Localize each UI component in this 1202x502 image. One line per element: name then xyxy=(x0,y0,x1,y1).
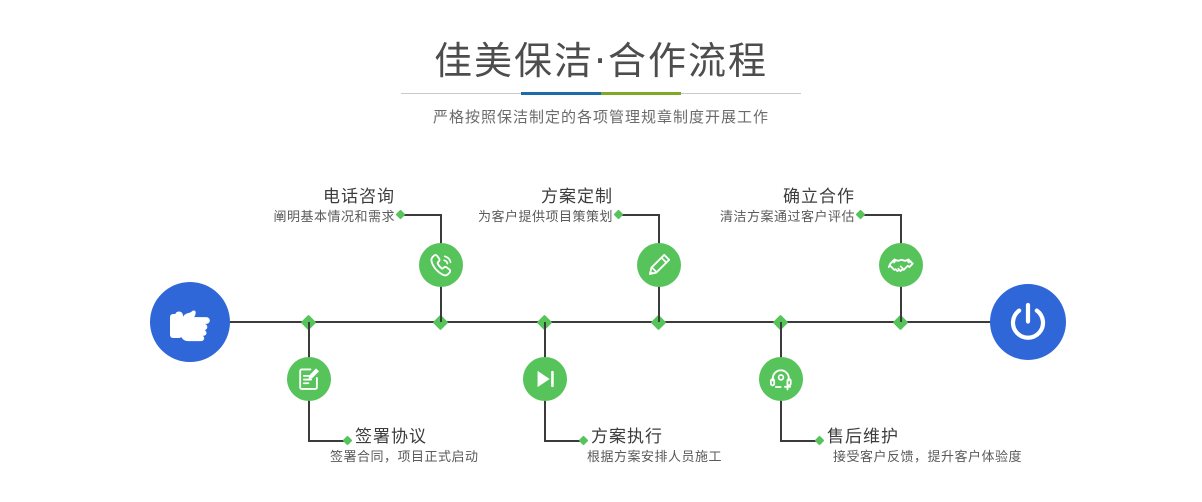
label-step-1-title: 电话咨询 xyxy=(197,186,395,208)
label-step-3-desc: 为客户提供项目策策划 xyxy=(413,208,613,228)
headset-add-icon xyxy=(768,366,794,392)
step-circle-3[interactable] xyxy=(637,243,681,287)
label-step-2-desc: 签署合同，项目正式启动 xyxy=(330,448,605,468)
connector-horizontal-step-5 xyxy=(862,214,902,216)
label-marker-step-5 xyxy=(856,210,866,220)
label-step-6-title: 售后维护 xyxy=(827,426,1107,448)
label-step-1-desc: 阐明基本情况和需求 xyxy=(197,208,395,228)
label-step-1: 电话咨询 阐明基本情况和需求 xyxy=(197,186,395,228)
power-icon xyxy=(1006,300,1050,344)
step-circle-1[interactable] xyxy=(419,243,463,287)
label-marker-step-1 xyxy=(396,210,406,220)
label-marker-step-2 xyxy=(343,436,353,446)
timeline-axis xyxy=(150,321,1060,323)
label-marker-step-3 xyxy=(614,210,624,220)
label-step-5-desc: 清洁方案通过客户评估 xyxy=(655,208,855,228)
phone-call-icon xyxy=(428,252,455,279)
label-step-4: 方案执行 根据方案安排人员施工 xyxy=(591,426,841,468)
document-edit-icon xyxy=(296,366,322,392)
flowchart-canvas: 佳美保洁·合作流程 严格按照保洁制定的各项管理规章制度开展工作 xyxy=(0,0,1202,502)
page-subtitle: 严格按照保洁制定的各项管理规章制度开展工作 xyxy=(0,106,1202,128)
pointing-hand-icon xyxy=(167,301,213,343)
label-step-6: 售后维护 接受客户反馈，提升客户体验度 xyxy=(827,426,1107,468)
label-step-4-title: 方案执行 xyxy=(591,426,841,448)
label-step-2: 签署协议 签署合同，项目正式启动 xyxy=(355,426,605,468)
label-step-5: 确立合作 清洁方案通过客户评估 xyxy=(655,186,855,228)
divider-green-segment xyxy=(601,92,681,95)
label-step-3: 方案定制 为客户提供项目策策划 xyxy=(413,186,613,228)
label-step-3-title: 方案定制 xyxy=(413,186,613,208)
label-step-4-desc: 根据方案安排人员施工 xyxy=(587,448,841,468)
step-circle-4[interactable] xyxy=(523,357,567,401)
play-next-icon xyxy=(532,366,558,392)
connector-horizontal-step-3 xyxy=(620,214,660,216)
title-divider xyxy=(401,92,801,96)
label-step-5-title: 确立合作 xyxy=(655,186,855,208)
pencil-icon xyxy=(646,252,672,278)
start-endpoint-circle[interactable] xyxy=(150,282,230,362)
end-endpoint-circle[interactable] xyxy=(990,284,1066,360)
step-circle-6[interactable] xyxy=(759,357,803,401)
page-title: 佳美保洁·合作流程 xyxy=(0,38,1202,84)
step-circle-2[interactable] xyxy=(287,357,331,401)
divider-blue-segment xyxy=(521,92,601,95)
label-step-6-desc: 接受客户反馈，提升客户体验度 xyxy=(833,448,1107,468)
label-step-2-title: 签署协议 xyxy=(355,426,605,448)
handshake-icon xyxy=(888,252,915,279)
step-circle-5[interactable] xyxy=(879,243,923,287)
